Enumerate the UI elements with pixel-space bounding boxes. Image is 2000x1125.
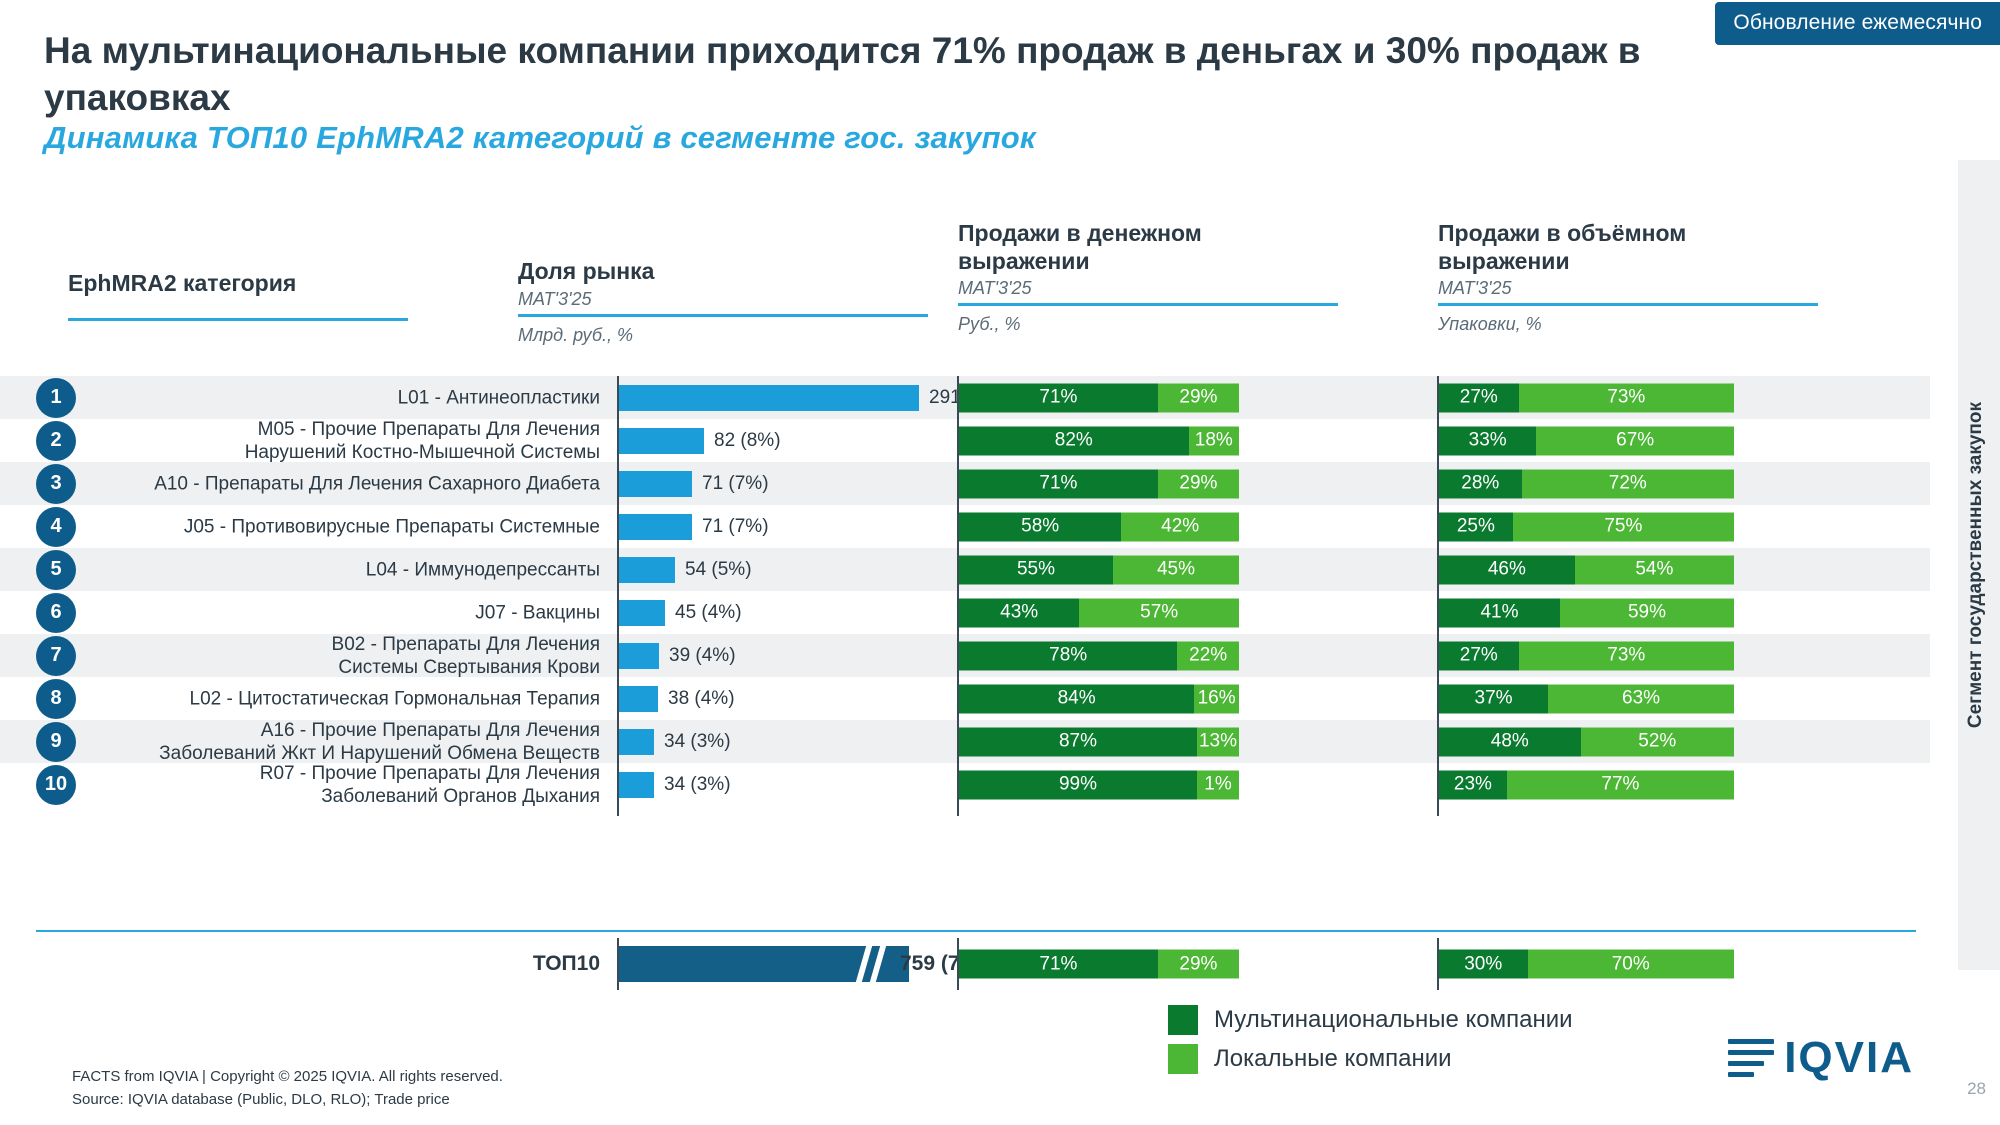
table-row: 10R07 - Прочие Препараты Для ЛеченияЗабо… [0,763,1930,806]
table-row: 6J07 - Вакцины45 (4%)43%57%41%59% [0,591,1930,634]
column-header-value-units: Руб., % [958,314,1338,335]
market-share-bar [619,428,704,454]
rank-badge: 3 [36,464,76,504]
footer-copyright: FACTS from IQVIA | Copyright © 2025 IQVI… [72,1066,503,1089]
iqvia-logo-wordmark: IQVIA [1784,1033,1914,1083]
volume-loc-segment: 67% [1536,426,1734,455]
column-header-volume-title: Продажи в объёмном выражении [1438,220,1818,275]
total-value-mnc-segment: 71% [959,950,1158,979]
column-header-share-units: Млрд. руб., % [518,325,928,346]
category-label: A16 - Прочие Препараты Для ЛеченияЗаболе… [100,718,600,764]
value-stacked-bar: 87%13% [959,727,1239,756]
segment-side-tab-text: Сегмент государственных закупок [1965,402,1987,728]
footer-source: Source: IQVIA database (Public, DLO, RLO… [72,1089,503,1112]
market-share-bar [619,385,919,411]
category-label: L01 - Антинеопластики [100,386,600,409]
value-loc-segment: 16% [1194,684,1239,713]
rank-badge: 7 [36,636,76,676]
value-mnc-segment: 55% [959,555,1113,584]
iqvia-logo-bars-icon [1728,1036,1774,1080]
column-header-volume-units: Упаковки, % [1438,314,1818,335]
table-row: 8L02 - Цитостатическая Гормональная Тера… [0,677,1930,720]
value-stacked-bar: 58%42% [959,512,1239,541]
volume-mnc-segment: 37% [1439,684,1548,713]
volume-mnc-segment: 23% [1439,770,1507,799]
category-label-line: J07 - Вакцины [100,601,600,624]
market-share-bar [619,557,675,583]
column-header-category: EphMRA2 категория [68,270,408,321]
category-label-line: A10 - Препараты Для Лечения Сахарного Ди… [100,472,600,495]
volume-mnc-segment: 25% [1439,512,1513,541]
category-label: R07 - Прочие Препараты Для ЛеченияЗаболе… [100,761,600,807]
value-stacked-bar: 84%16% [959,684,1239,713]
market-share-label: 39 (4%) [669,645,736,667]
rank-badge: 4 [36,507,76,547]
market-share-label: 34 (3%) [664,731,731,753]
category-label-line: L01 - Антинеопластики [100,386,600,409]
volume-loc-segment: 63% [1548,684,1734,713]
column-header-share: Доля рынка MAT'3'25 Млрд. руб., % [518,258,928,346]
total-share-axis [617,938,619,990]
column-header-volume-rule [1438,303,1818,306]
value-stacked-bar: 71%29% [959,383,1239,412]
total-value-loc-segment: 29% [1158,950,1239,979]
value-stacked-bar: 82%18% [959,426,1239,455]
table-row: 1L01 - Антинеопластики291 (28%)71%29%27%… [0,376,1930,419]
total-value-stack: 71% 29% [959,950,1239,979]
volume-stacked-bar: 27%73% [1439,383,1734,412]
value-mnc-segment: 99% [959,770,1197,799]
value-stacked-bar: 78%22% [959,641,1239,670]
category-label: L02 - Цитостатическая Гормональная Терап… [100,687,600,710]
category-label: J07 - Вакцины [100,601,600,624]
column-header-share-rule [518,314,928,317]
value-stacked-bar: 55%45% [959,555,1239,584]
market-share-label: 82 (8%) [714,430,781,452]
volume-loc-segment: 75% [1513,512,1734,541]
volume-stacked-bar: 28%72% [1439,469,1734,498]
legend-item-multinational: Мультинациональные компании [1168,1005,1573,1035]
market-share-bar [619,686,658,712]
total-row-label: ТОП10 [100,952,600,976]
volume-axis-line [1437,376,1439,816]
volume-mnc-segment: 28% [1439,469,1522,498]
column-header-value-period: MAT'3'25 [958,278,1338,299]
category-label-line: L04 - Иммунодепрессанты [100,558,600,581]
category-label-line: L02 - Цитостатическая Гормональная Терап… [100,687,600,710]
table-row: 7B02 - Препараты Для ЛеченияСистемы Свер… [0,634,1930,677]
column-header-volume: Продажи в объёмном выражении MAT'3'25 Уп… [1438,220,1818,335]
total-volume-loc-segment: 70% [1528,950,1735,979]
value-mnc-segment: 87% [959,727,1197,756]
column-header-value-rule [958,303,1338,306]
axis-break-icon [855,938,889,990]
market-share-bar [619,600,665,626]
table-row: 2M05 - Прочие Препараты Для ЛеченияНаруш… [0,419,1930,462]
column-header-category-title: EphMRA2 категория [68,270,408,298]
table-row: 5L04 - Иммунодепрессанты54 (5%)55%45%46%… [0,548,1930,591]
volume-loc-segment: 72% [1522,469,1734,498]
value-loc-segment: 57% [1079,598,1239,627]
column-header-volume-period: MAT'3'25 [1438,278,1818,299]
category-label: M05 - Прочие Препараты Для ЛеченияНаруше… [100,417,600,463]
category-label-line: R07 - Прочие Препараты Для Лечения [100,761,600,784]
volume-stacked-bar: 25%75% [1439,512,1734,541]
volume-stacked-bar: 37%63% [1439,684,1734,713]
value-mnc-segment: 71% [959,383,1158,412]
volume-stacked-bar: 27%73% [1439,641,1734,670]
table-row: 4J05 - Противовирусные Препараты Системн… [0,505,1930,548]
market-share-bar [619,729,654,755]
value-mnc-segment: 84% [959,684,1194,713]
value-loc-segment: 13% [1197,727,1239,756]
category-label-line: Заболеваний Органов Дыхания [100,785,600,808]
volume-mnc-segment: 27% [1439,641,1519,670]
market-share-label: 54 (5%) [685,559,752,581]
market-share-label: 38 (4%) [668,688,735,710]
total-volume-stack: 30% 70% [1439,950,1734,979]
category-label-line: Системы Свертывания Крови [100,656,600,679]
legend-swatch-local [1168,1044,1198,1074]
value-axis-line [957,376,959,816]
legend-swatch-multinational [1168,1005,1198,1035]
category-label: J05 - Противовирусные Препараты Системны… [100,515,600,538]
volume-mnc-segment: 33% [1439,426,1536,455]
category-label: B02 - Препараты Для ЛеченияСистемы Сверт… [100,632,600,678]
volume-stacked-bar: 46%54% [1439,555,1734,584]
rank-badge: 6 [36,593,76,633]
volume-loc-segment: 73% [1519,383,1734,412]
rank-badge: 1 [36,378,76,418]
category-table: 1L01 - Антинеопластики291 (28%)71%29%27%… [0,376,1930,806]
chart-legend: Мультинациональные компании Локальные ко… [1168,1005,1573,1083]
column-header-value-title: Продажи в денежном выражении [958,220,1338,275]
value-stacked-bar: 71%29% [959,469,1239,498]
page-subtitle: Динамика ТОП10 EphMRA2 категорий в сегме… [44,120,1036,156]
market-share-label: 71 (7%) [702,473,769,495]
iqvia-logo: IQVIA [1728,1033,1914,1083]
volume-stacked-bar: 23%77% [1439,770,1734,799]
column-header-value: Продажи в денежном выражении MAT'3'25 Ру… [958,220,1338,335]
category-label: L04 - Иммунодепрессанты [100,558,600,581]
update-frequency-badge: Обновление ежемесячно [1715,2,2000,45]
value-stacked-bar: 43%57% [959,598,1239,627]
market-share-bar [619,772,654,798]
category-label-line: J05 - Противовирусные Препараты Системны… [100,515,600,538]
rank-badge: 10 [36,765,76,805]
table-row: 3A10 - Препараты Для Лечения Сахарного Д… [0,462,1930,505]
market-share-label: 34 (3%) [664,774,731,796]
volume-mnc-segment: 48% [1439,727,1581,756]
legend-item-local: Локальные компании [1168,1044,1573,1074]
value-loc-segment: 22% [1177,641,1239,670]
volume-mnc-segment: 41% [1439,598,1560,627]
value-loc-segment: 18% [1189,426,1239,455]
volume-mnc-segment: 27% [1439,383,1519,412]
volume-loc-segment: 54% [1575,555,1734,584]
page-number: 28 [1967,1079,1986,1099]
value-mnc-segment: 78% [959,641,1177,670]
column-header-share-period: MAT'3'25 [518,289,928,310]
value-mnc-segment: 58% [959,512,1121,541]
category-label-line: Нарушений Костно-Мышечной Системы [100,441,600,464]
volume-loc-segment: 59% [1560,598,1734,627]
category-label-line: B02 - Препараты Для Лечения [100,632,600,655]
legend-label-multinational: Мультинациональные компании [1214,1006,1573,1034]
volume-loc-segment: 52% [1581,727,1734,756]
volume-loc-segment: 73% [1519,641,1734,670]
share-axis-line [617,376,619,816]
category-label-line: A16 - Прочие Препараты Для Лечения [100,718,600,741]
volume-stacked-bar: 41%59% [1439,598,1734,627]
total-separator [36,930,1916,932]
volume-stacked-bar: 48%52% [1439,727,1734,756]
rank-badge: 8 [36,679,76,719]
value-stacked-bar: 99%1% [959,770,1239,799]
market-share-bar [619,471,692,497]
total-volume-mnc-segment: 30% [1439,950,1528,979]
value-mnc-segment: 43% [959,598,1079,627]
value-mnc-segment: 71% [959,469,1158,498]
category-label: A10 - Препараты Для Лечения Сахарного Ди… [100,472,600,495]
volume-loc-segment: 77% [1507,770,1734,799]
footer-notes: FACTS from IQVIA | Copyright © 2025 IQVI… [72,1066,503,1111]
rank-badge: 2 [36,421,76,461]
legend-label-local: Локальные компании [1214,1045,1452,1073]
value-mnc-segment: 82% [959,426,1189,455]
segment-side-tab-label: Сегмент государственных закупок [1955,160,1997,970]
volume-stacked-bar: 33%67% [1439,426,1734,455]
category-label-line: M05 - Прочие Препараты Для Лечения [100,417,600,440]
market-share-label: 71 (7%) [702,516,769,538]
rank-badge: 5 [36,550,76,590]
column-header-category-rule [68,318,408,321]
value-loc-segment: 45% [1113,555,1239,584]
value-loc-segment: 42% [1121,512,1239,541]
value-loc-segment: 1% [1197,770,1239,799]
market-share-bar [619,643,659,669]
page-title: На мультинациональные компании приходитс… [44,28,1684,122]
value-loc-segment: 29% [1158,469,1239,498]
column-header-share-title: Доля рынка [518,258,928,286]
volume-mnc-segment: 46% [1439,555,1575,584]
market-share-bar [619,514,692,540]
table-row: 9A16 - Прочие Препараты Для ЛеченияЗабол… [0,720,1930,763]
value-loc-segment: 29% [1158,383,1239,412]
total-row: ТОП10 759 (73%) 71% 29% 30% 70% [0,938,1930,990]
market-share-label: 45 (4%) [675,602,742,624]
rank-badge: 9 [36,722,76,762]
